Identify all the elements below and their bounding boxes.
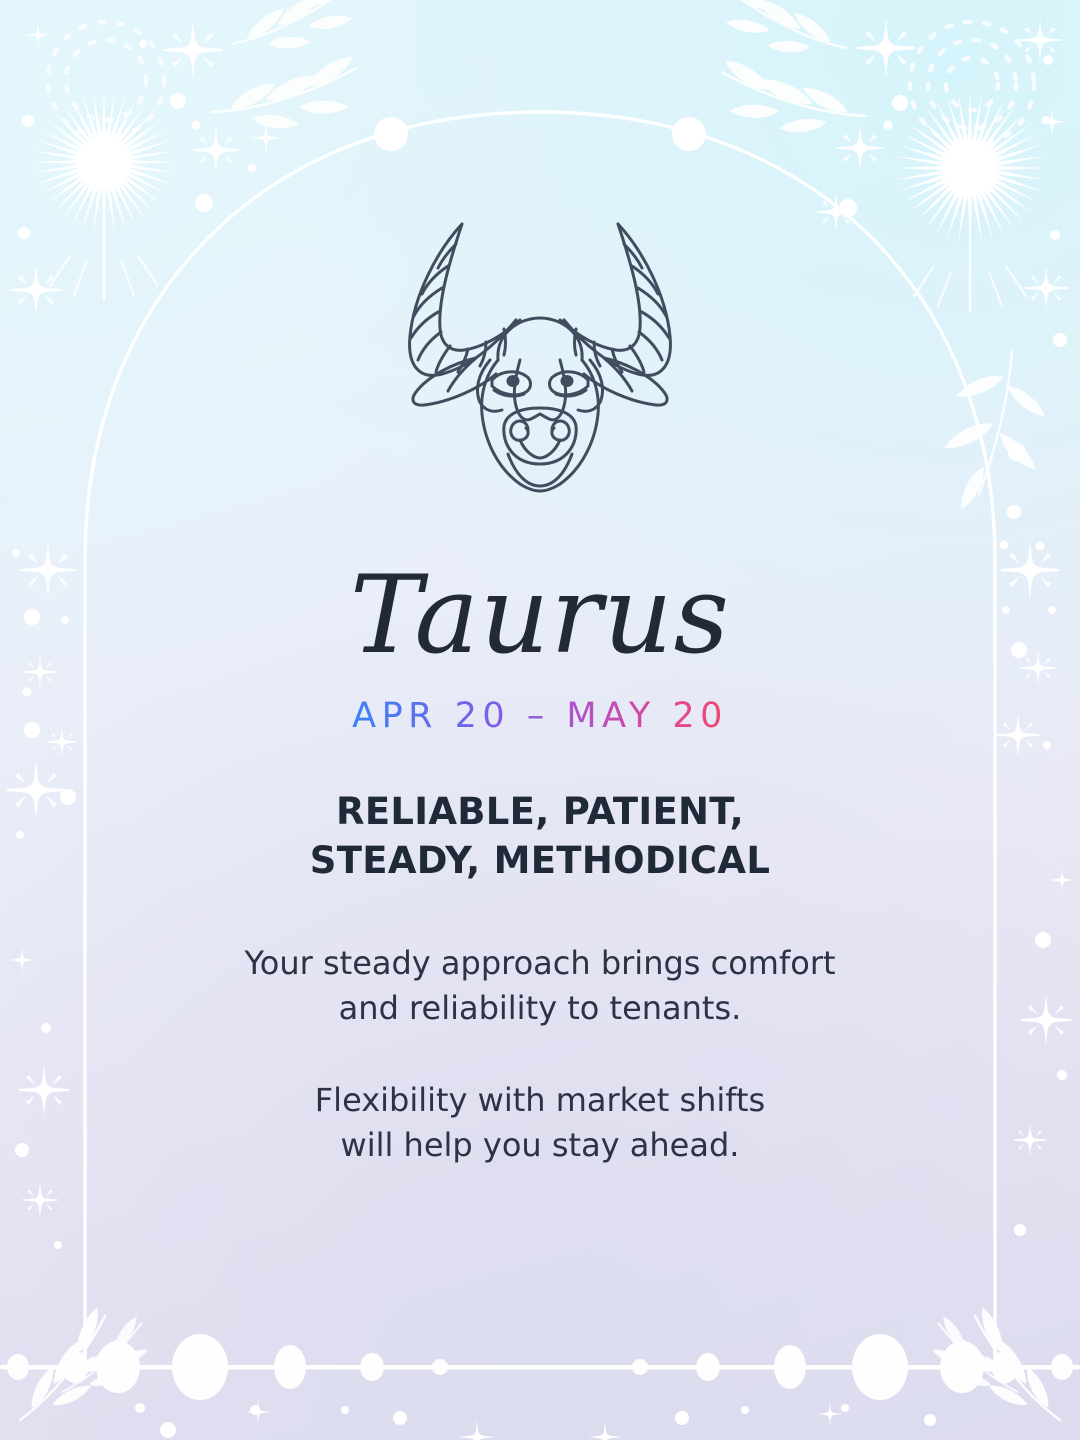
dot-decor xyxy=(250,1405,260,1415)
bull-head-icon xyxy=(380,208,700,508)
dot-decor xyxy=(393,1411,407,1425)
description-2-line-2: will help you stay ahead. xyxy=(315,1123,765,1168)
zodiac-poster: Taurus APR 20 – MAY 20 RELIABLE, PATIENT… xyxy=(0,0,1080,1440)
botanical-leaf-branch-icon xyxy=(944,1302,1080,1429)
page-title: Taurus xyxy=(350,562,730,670)
four-point-sparkle-star-icon xyxy=(817,1401,843,1427)
description-2-line-1: Flexibility with market shifts xyxy=(315,1078,765,1123)
description-1-line-2: and reliability to tenants. xyxy=(244,986,835,1031)
beaded-divider-line xyxy=(0,1334,1080,1400)
poster-content: Taurus APR 20 – MAY 20 RELIABLE, PATIENT… xyxy=(0,0,1080,1168)
dot-decor xyxy=(54,1241,62,1249)
dot-decor xyxy=(160,1422,176,1438)
four-point-sparkle-star-icon xyxy=(245,1399,271,1425)
dot-decor xyxy=(924,1414,936,1426)
description-1-line-1: Your steady approach brings comfort xyxy=(244,941,835,986)
dot-decor xyxy=(341,1406,349,1414)
traits-line-1: RELIABLE, PATIENT, xyxy=(310,788,770,837)
dot-decor xyxy=(675,1411,689,1425)
dot-decor xyxy=(1014,1224,1026,1236)
divider-crescent-moon-icon xyxy=(489,1311,549,1404)
description-paragraph-2: Flexibility with market shifts will help… xyxy=(315,1078,765,1169)
dot-decor xyxy=(135,1403,145,1413)
botanical-leaf-branch-icon xyxy=(46,1313,158,1400)
four-point-sparkle-star-icon xyxy=(588,1420,622,1440)
eight-point-sparkle-star-icon xyxy=(22,1182,58,1218)
four-point-sparkle-star-icon xyxy=(459,1419,495,1440)
traits-line-2: STEADY, METHODICAL xyxy=(310,837,770,886)
dot-decor xyxy=(841,1404,849,1412)
traits-text: RELIABLE, PATIENT, STEADY, METHODICAL xyxy=(310,788,770,886)
description-paragraph-1: Your steady approach brings comfort and … xyxy=(244,941,835,1032)
botanical-leaf-branch-icon xyxy=(922,1313,1034,1400)
dot-decor xyxy=(741,1406,749,1414)
botanical-leaf-branch-icon xyxy=(0,1302,136,1429)
date-range: APR 20 – MAY 20 xyxy=(352,696,728,736)
